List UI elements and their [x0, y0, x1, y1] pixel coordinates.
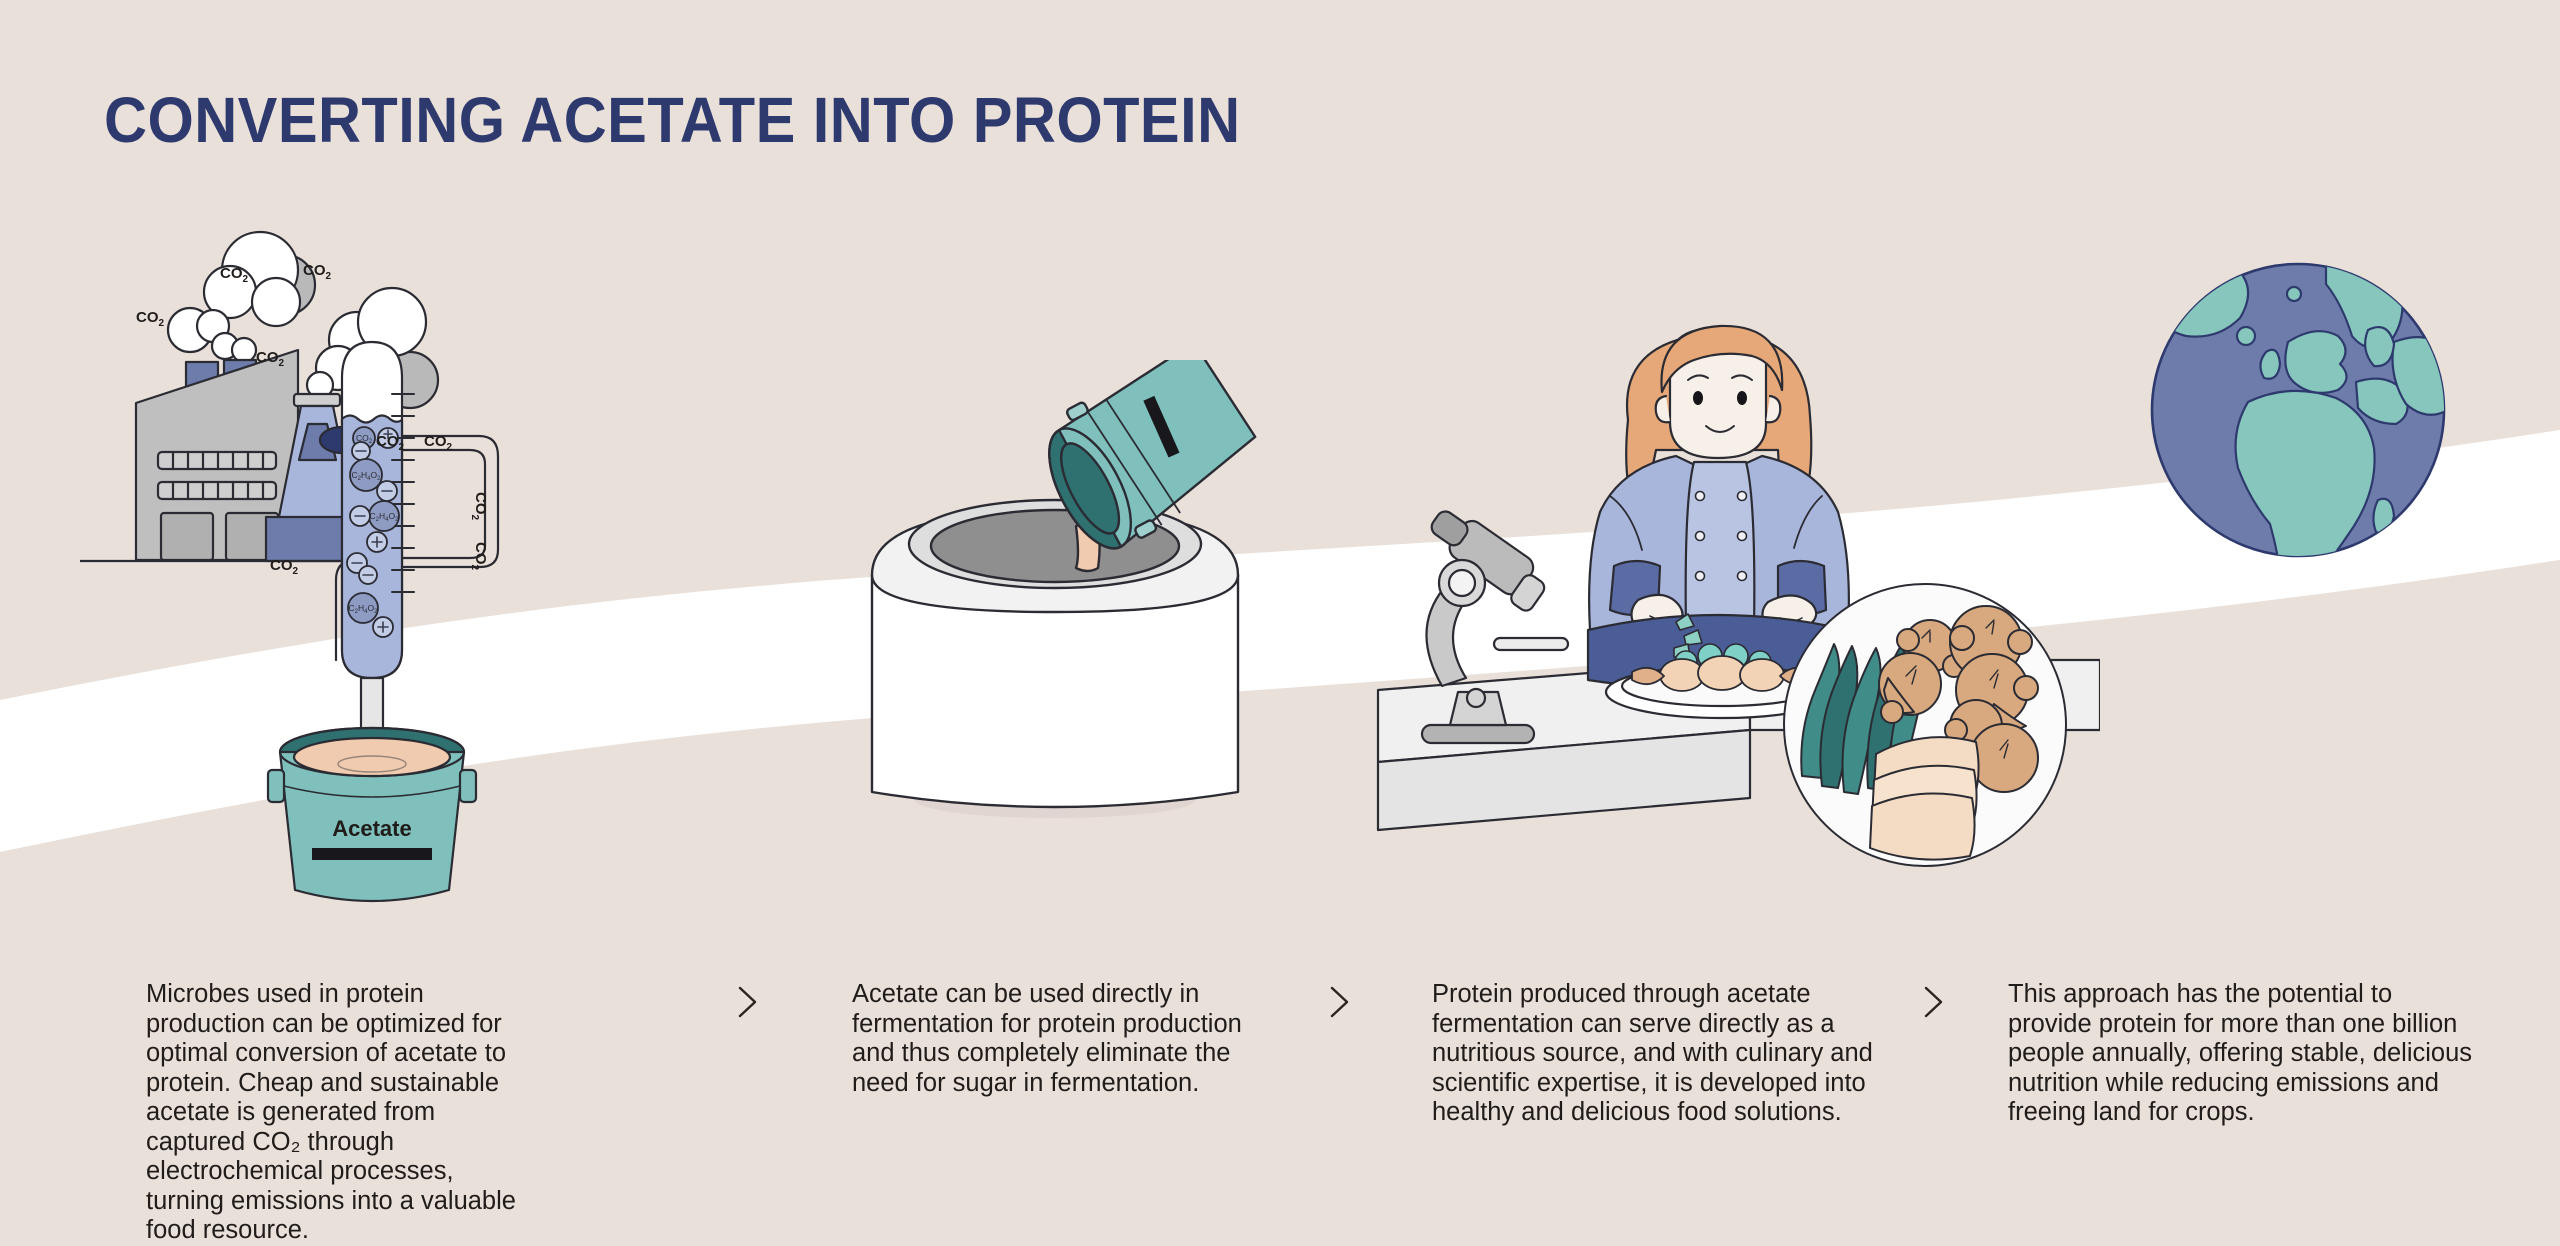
infographic-canvas: CONVERTING ACETATE INTO PROTEIN [0, 0, 2560, 1225]
caption-step-3: Protein produced through acetate ferment… [1432, 980, 1912, 1128]
scene-fermenter-tank [840, 360, 1270, 830]
svg-text:CO2: CO2 [136, 309, 165, 329]
caption-step-4: This approach has the potential to provi… [2008, 980, 2478, 1128]
chevron-right-icon [730, 980, 764, 1024]
chevron-right-icon [1916, 980, 1950, 1024]
page-title: CONVERTING ACETATE INTO PROTEIN [104, 88, 1241, 152]
caption-step-1: Microbes used in protein production can … [146, 980, 521, 1246]
caption-step-2: Acetate can be used directly in fermenta… [852, 980, 1247, 1098]
scene-factory-electrolyzer: CO2 CO2 CO2 CO2 CO2 CO2 CO2 CO2 CO2 CO2 … [80, 230, 720, 910]
bucket-label: Acetate [332, 816, 411, 841]
caption-row: Microbes used in protein production can … [0, 980, 2560, 1210]
acetate-bucket [268, 728, 476, 901]
chevron-right-icon [1322, 980, 1356, 1024]
scene-globe [2130, 232, 2480, 612]
bread-slice-group [1870, 737, 1979, 859]
electrolyzer-tube [342, 342, 414, 787]
food-plate-closeup [1780, 580, 2070, 870]
